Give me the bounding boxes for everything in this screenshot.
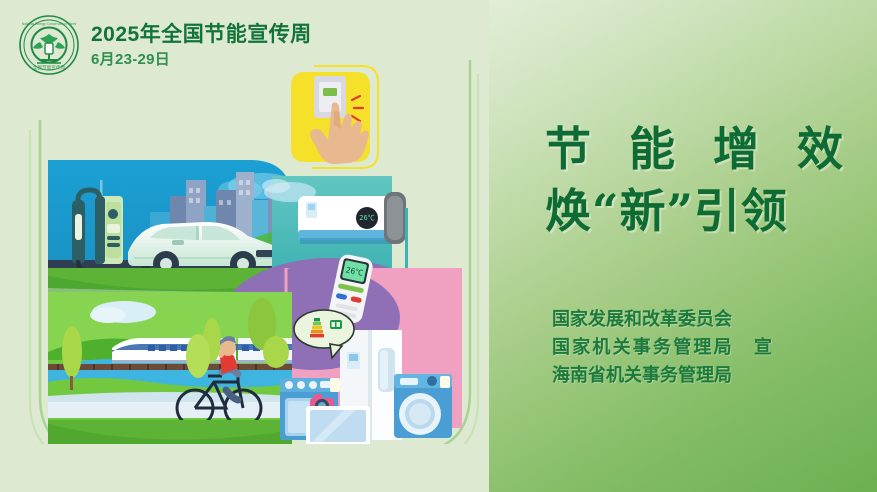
scene-air-conditioner: 26℃ bbox=[262, 176, 408, 272]
right-text-panel bbox=[489, 0, 877, 492]
headline-line-2: 焕“新”引领 bbox=[545, 180, 854, 242]
scene-green-transport bbox=[48, 292, 300, 444]
air-conditioner-unit: 26℃ bbox=[298, 192, 406, 244]
logo-inner-text: 全国节能宣传周 bbox=[33, 64, 66, 71]
campaign-title: 2025年全国节能宣传周 bbox=[91, 24, 312, 45]
scene-light-switch bbox=[291, 66, 378, 168]
scene-ev-charging bbox=[48, 160, 296, 292]
poster: 26℃ 26℃ bbox=[0, 0, 877, 492]
headline: 节 能 增 效 焕“新”引领 bbox=[545, 118, 854, 242]
organization-line: 国家机关事务管理局 宣 bbox=[552, 333, 774, 361]
national-energy-conservation-week-emblem: National Energy Conservation Week 全国节能宣传… bbox=[18, 14, 80, 76]
organization-line: 国家发展和改革委员会 bbox=[552, 305, 774, 333]
ac-display-value: 26℃ bbox=[359, 214, 374, 222]
washing-machine bbox=[394, 374, 452, 438]
headline-line-1: 节 能 增 效 bbox=[545, 118, 854, 180]
campaign-date: 6月23-29日 bbox=[91, 52, 312, 67]
logo-outer-text: National Energy Conservation Week bbox=[22, 22, 77, 26]
header-text-group: 2025年全国节能宣传周 6月23-29日 bbox=[91, 24, 312, 67]
header: National Energy Conservation Week 全国节能宣传… bbox=[18, 14, 312, 76]
organization-line: 海南省机关事务管理局 bbox=[552, 361, 774, 389]
organization-list: 国家发展和改革委员会 国家机关事务管理局 宣 海南省机关事务管理局 bbox=[552, 305, 774, 389]
wall-switch bbox=[314, 76, 346, 118]
